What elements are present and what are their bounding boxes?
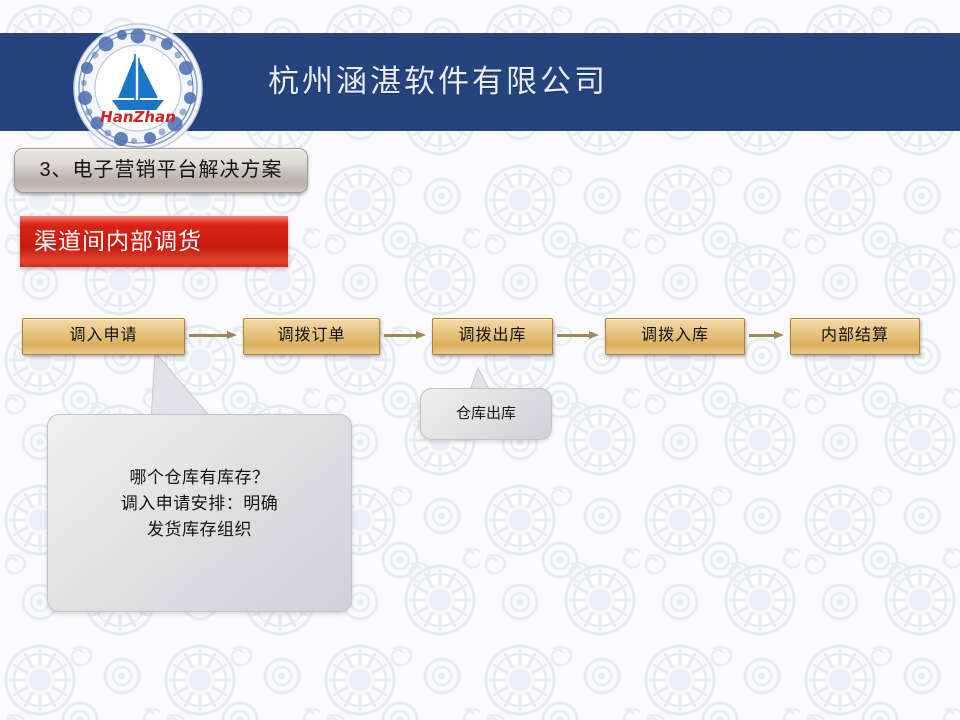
arrow-head-icon (774, 331, 784, 339)
company-title: 杭州涵湛软件有限公司 (268, 33, 868, 131)
inbound-request-callout-text: 哪个仓库有库存？ 调入申请安排：明确 发货库存组织 (48, 465, 351, 543)
arrow-head-icon (416, 331, 426, 339)
callout-line-1: 哪个仓库有库存？ (48, 465, 351, 491)
flow-arrow-1 (189, 331, 237, 340)
arrow-shaft (189, 334, 228, 337)
arrow-shaft (557, 334, 590, 337)
flow-arrow-2 (384, 331, 426, 340)
section-title-pill: 3、电子营销平台解决方案 (14, 148, 308, 193)
inbound-request-callout[interactable]: 哪个仓库有库存？ 调入申请安排：明确 发货库存组织 (47, 414, 352, 612)
slide-canvas: 杭州涵湛软件有限公司 (0, 0, 960, 720)
company-logo-icon: HanZhan (72, 22, 204, 154)
flow-step-1[interactable]: 调入申请 (22, 318, 185, 355)
arrow-head-icon (227, 331, 237, 339)
arrow-shaft (384, 334, 417, 337)
red-banner: 渠道间内部调货 (20, 216, 288, 267)
logo-wordmark: HanZhan (100, 108, 176, 126)
callout-line-2: 调入申请安排：明确 (48, 491, 351, 517)
warehouse-outbound-callout[interactable]: 仓库出库 (420, 388, 552, 440)
flow-step-5[interactable]: 内部结算 (790, 318, 920, 355)
flow-step-3[interactable]: 调拨出库 (432, 318, 553, 355)
arrow-shaft (749, 334, 775, 337)
flow-arrow-4 (749, 331, 784, 340)
flow-step-2[interactable]: 调拨订单 (243, 318, 380, 355)
flow-arrow-3 (557, 331, 599, 340)
flow-step-4[interactable]: 调拨入库 (605, 318, 745, 355)
arrow-head-icon (589, 331, 599, 339)
callout-line-3: 发货库存组织 (48, 517, 351, 543)
warehouse-outbound-label: 仓库出库 (421, 389, 551, 439)
section-title-label: 3、电子营销平台解决方案 (15, 149, 307, 192)
red-banner-label: 渠道间内部调货 (34, 216, 202, 267)
